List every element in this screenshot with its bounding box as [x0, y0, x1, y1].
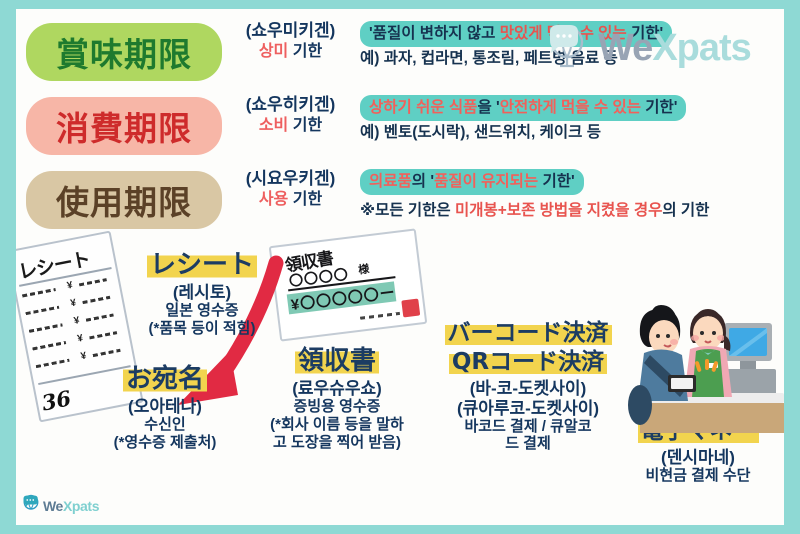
- wexpats-wordmark: WeXpats: [598, 27, 751, 70]
- term-jp-qrcode-payment: QRコード決済: [449, 350, 607, 376]
- term-desc-line3: 고 도장을 찍어 받음): [248, 435, 426, 452]
- description-shouhikigen: 상하기 쉬운 식품을 '안전하게 먹을 수 있는 기한' 예) 벤토(도시락),…: [360, 95, 780, 144]
- chip-shiyoukigen: 使用期限: [26, 171, 222, 229]
- term-block-oatena: お宛名 (오아테나) 수신인 (*영수증 제출처): [76, 365, 254, 452]
- note-seg-2: 의 기한: [662, 202, 709, 219]
- korean-meaning: 소비 기한: [228, 117, 353, 136]
- term-desc-line2: (*회사 이름 등을 말하: [248, 417, 426, 434]
- description-shiyoukigen: 의료품의 '품질이 유지되는 기한' ※모든 기한은 미개봉+보존 방법을 지켰…: [360, 169, 780, 220]
- term-desc-line1: 바코드 결제 / 큐알코: [414, 419, 642, 436]
- reading-group-shouhikigen: (쇼우히키겐) 소비 기한: [228, 95, 353, 136]
- watermark-part2: Xpats: [63, 498, 99, 514]
- term-jp-oatena: お宛名: [123, 365, 207, 394]
- term-reading-qrcode: (큐아루코-도켓사이): [414, 399, 642, 418]
- payment-terms-section: レシート ¥ ¥ ¥: [16, 237, 784, 525]
- definition-bubble: 상하기 쉬운 식품을 '안전하게 먹을 수 있는 기한': [360, 95, 686, 121]
- yen-symbol: ¥: [80, 350, 88, 362]
- meaning-suffix: 기한: [293, 43, 322, 60]
- card-honorific: 様: [357, 260, 370, 277]
- globe-speech-bubble-icon: [544, 22, 592, 75]
- yen-symbol: ¥: [76, 333, 84, 345]
- term-block-ryoushuusho: 領収書 (료우슈우쇼) 증빙용 영수증 (*회사 이름 등을 말하 고 도장을 …: [248, 347, 426, 452]
- cashier-and-customer-illustration: [616, 289, 784, 437]
- wexpats-watermark: WeXpats: [22, 494, 99, 517]
- term-desc-line2: (*품목 등이 적힘): [128, 321, 276, 338]
- definition-bubble: 의료품의 '품질이 유지되는 기한': [360, 169, 584, 195]
- bubble-seg-3: 기한': [538, 173, 575, 190]
- universal-note: ※모든 기한은 미개봉+보존 방법을 지켰을 경우의 기한: [360, 198, 780, 220]
- term-jp-barcode-payment: バーコード決済: [445, 321, 612, 347]
- term-reading: (료우슈우쇼): [248, 379, 426, 398]
- yen-symbol: ¥: [66, 280, 74, 292]
- kana-reading: (시요우키겐): [228, 169, 353, 189]
- term-desc-line1: 수신인: [76, 417, 254, 434]
- infographic-content: 賞味期限 (쇼우미키겐) 상미 기한 '품질이 변하지 않고 맛있게 먹을 수 …: [16, 9, 784, 525]
- term-reading-barcode: (바-코-도켓사이): [414, 379, 642, 398]
- globe-speech-bubble-icon: [22, 494, 40, 517]
- bubble-seg-2: 안전하게 먹을 수 있는: [500, 99, 641, 116]
- term-desc-line1: 비현금 결제 수단: [612, 468, 784, 485]
- expiry-row-shouhikigen: 消費期限 (쇼우히키겐) 소비 기한 상하기 쉬운 식품을 '안전하게 먹을 수…: [16, 91, 784, 164]
- red-seal-stamp-icon: [401, 299, 420, 318]
- bubble-seg-0: 의료품: [369, 173, 412, 190]
- meaning-suffix: 기한: [293, 117, 322, 134]
- kana-reading: (쇼우미키겐): [228, 21, 353, 41]
- term-desc-line1: 증빙용 영수증: [248, 399, 426, 416]
- wordmark-part1: We: [598, 27, 652, 69]
- bubble-seg-0: 상하기 쉬운 식품: [369, 99, 477, 116]
- term-desc-line2: (*영수증 제출처): [76, 435, 254, 452]
- bubble-seg-0: '품질이 변하지 않고: [369, 25, 500, 42]
- watermark-part1: We: [43, 498, 63, 514]
- example-text: 예) 벤토(도시락), 샌드위치, 케이크 등: [360, 123, 780, 143]
- note-seg-1: 미개봉+보존 방법을 지켰을 경우: [455, 202, 662, 219]
- term-desc-line1: 일본 영수증: [128, 303, 276, 320]
- korean-meaning: 상미 기한: [228, 43, 353, 62]
- term-reading: (레시토): [128, 283, 276, 302]
- bubble-seg-1: 의 ': [412, 173, 434, 190]
- yen-symbol: ¥: [70, 297, 78, 309]
- meaning-emphasis: 상미: [259, 43, 288, 60]
- chip-shoumikigen: 賞味期限: [26, 23, 222, 81]
- term-desc-line2: 드 결제: [414, 436, 642, 453]
- term-block-reshito: レシート (레시토) 일본 영수증 (*품목 등이 적힘): [128, 251, 276, 338]
- watermark-wordmark: WeXpats: [43, 498, 99, 514]
- note-seg-0: ※모든 기한은: [360, 202, 455, 219]
- kana-reading: (쇼우히키겐): [228, 95, 353, 115]
- wordmark-part2: Xpats: [652, 27, 750, 69]
- infographic-canvas: 賞味期限 (쇼우미키겐) 상미 기한 '품질이 변하지 않고 맛있게 먹을 수 …: [0, 0, 800, 534]
- reading-group-shoumikigen: (쇼우미키겐) 상미 기한: [228, 21, 353, 62]
- meaning-suffix: 기한: [293, 191, 322, 208]
- bubble-seg-2: 품질이 유지되는: [434, 173, 538, 190]
- expiry-row-shiyoukigen: 使用期限 (시요우키겐) 사용 기한 의료품의 '품질이 유지되는 기한' ※모…: [16, 165, 784, 238]
- bubble-seg-3: 기한': [641, 99, 678, 116]
- wexpats-logo: WeXpats: [544, 22, 774, 74]
- term-jp-reshito: レシート: [147, 251, 257, 280]
- yen-symbol: ¥: [73, 315, 81, 327]
- meaning-emphasis: 사용: [259, 191, 288, 208]
- reading-group-shiyoukigen: (시요우키겐) 사용 기한: [228, 169, 353, 210]
- meaning-emphasis: 소비: [259, 117, 288, 134]
- term-block-code-payment: バーコード決済 QRコード決済 (바-코-도켓사이) (큐아루코-도켓사이) 바…: [414, 321, 642, 453]
- bubble-seg-1: 을 ': [477, 99, 499, 116]
- term-jp-ryoushuusho: 領収書: [295, 347, 379, 376]
- term-reading: (오아테나): [76, 397, 254, 416]
- korean-meaning: 사용 기한: [228, 191, 353, 210]
- chip-shouhikigen: 消費期限: [26, 97, 222, 155]
- term-reading: (덴시마네): [612, 448, 784, 467]
